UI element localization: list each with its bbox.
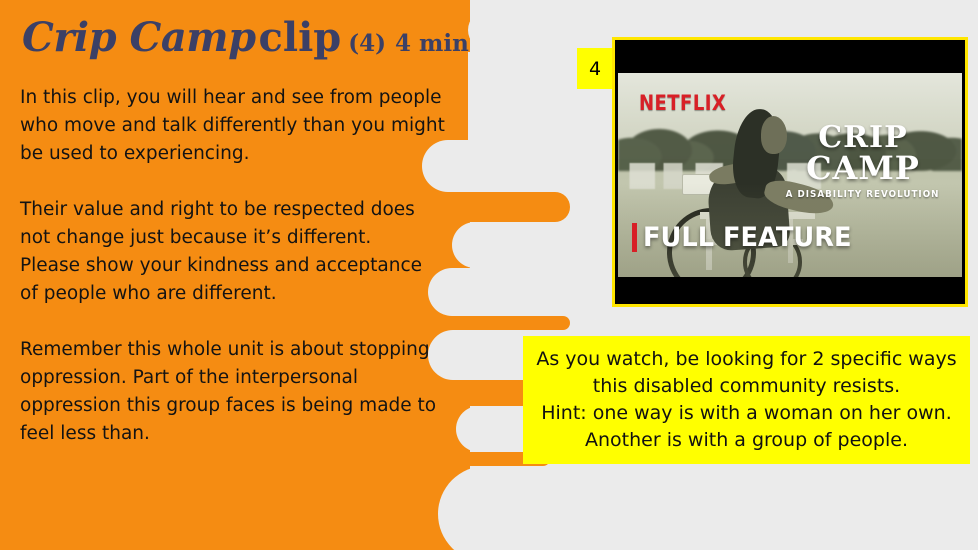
logo-subtitle: A DISABILITY REVOLUTION bbox=[786, 189, 940, 200]
crip-camp-logo: CRIP CAMP A DISABILITY REVOLUTION bbox=[779, 124, 946, 200]
thumbnail-photo: NETFLIX CRIP CAMP A DISABILITY REVOLUTIO… bbox=[618, 73, 962, 277]
netflix-wordmark: NETFLIX bbox=[639, 91, 726, 115]
title-clip: clip bbox=[259, 14, 342, 61]
full-feature-label: FULL FEATURE bbox=[632, 222, 862, 253]
video-thumbnail[interactable]: NETFLIX CRIP CAMP A DISABILITY REVOLUTIO… bbox=[612, 37, 968, 307]
title-main: Crip Camp bbox=[22, 14, 256, 61]
slide-number-value: 4 bbox=[589, 58, 601, 80]
title-count: (4) bbox=[348, 30, 386, 57]
slide-canvas: Crip Campclip(4)4 min In this clip, you … bbox=[0, 0, 978, 550]
callout-text: As you watch, be looking for 2 specific … bbox=[523, 346, 970, 454]
thumbnail-letterbox: NETFLIX CRIP CAMP A DISABILITY REVOLUTIO… bbox=[618, 43, 962, 301]
body-copy: In this clip, you will hear and see from… bbox=[20, 84, 445, 448]
callout-box: As you watch, be looking for 2 specific … bbox=[523, 336, 970, 464]
red-bar-icon bbox=[632, 223, 637, 252]
full-feature-text: FULL FEATURE bbox=[643, 222, 851, 253]
title-duration: 4 min bbox=[395, 30, 469, 57]
logo-line-2: CAMP bbox=[779, 153, 946, 184]
page-title: Crip Campclip(4)4 min bbox=[22, 18, 562, 58]
slide-number-badge: 4 bbox=[577, 48, 613, 89]
